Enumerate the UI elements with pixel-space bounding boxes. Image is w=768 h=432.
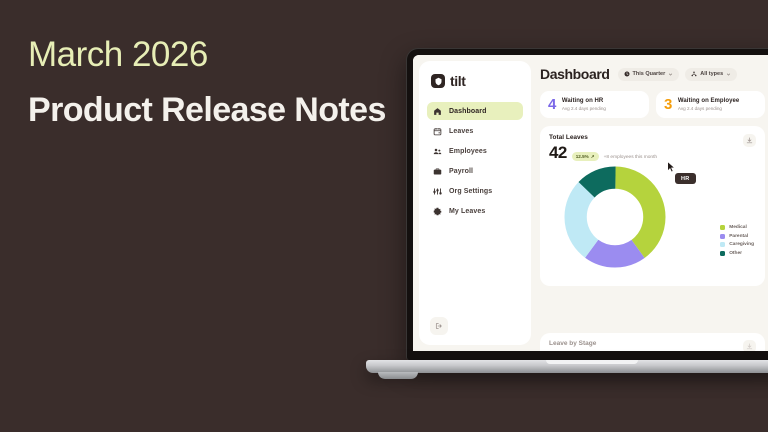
panel-header-text: Total Leaves 42 12.5% ↗ +8 employees thi… (549, 134, 657, 161)
legend-label: Parental (729, 234, 748, 239)
brand-name: tilt (450, 73, 466, 89)
gear-icon (433, 207, 442, 216)
chart-area: Medical Parental Caregiving (549, 163, 756, 281)
filter-chip-label: This Quarter (633, 71, 666, 77)
total-leaves-panel: Total Leaves 42 12.5% ↗ +8 employees thi… (540, 126, 765, 286)
dashboard-app: tilt Dashboard Leaves Emp (413, 55, 768, 351)
sliders-icon (433, 187, 442, 196)
metric-change-value: 12.5% (576, 154, 589, 159)
export-button[interactable] (743, 134, 756, 147)
sidebar-item-label: Employees (449, 148, 487, 155)
stat-text: Waiting on Employee Avg 2.4 days pending (678, 98, 739, 111)
chart-legend: Medical Parental Caregiving (720, 225, 754, 256)
leave-type-donut-chart[interactable] (563, 165, 667, 269)
people-icon (433, 147, 442, 156)
chart-tooltip: HR (675, 173, 696, 184)
metric-row: 42 12.5% ↗ +8 employees this month (549, 144, 657, 161)
stat-value: 3 (664, 97, 672, 112)
home-icon (433, 107, 442, 116)
brand-logo: tilt (427, 72, 523, 89)
stat-text: Waiting on HR Avg 2.4 days pending (562, 98, 606, 111)
logout-button[interactable] (430, 317, 448, 335)
download-icon (746, 343, 753, 350)
filter-chip-type[interactable]: All types (685, 68, 737, 81)
legend-label: Caregiving (729, 242, 754, 247)
hero-text-block: March 2026 Product Release Notes (28, 34, 428, 132)
sidebar-item-payroll[interactable]: Payroll (427, 162, 523, 180)
sidebar-item-label: Org Settings (449, 188, 492, 195)
sidebar-item-my-leaves[interactable]: My Leaves (427, 202, 523, 220)
sidebar-item-label: My Leaves (449, 208, 485, 215)
sidebar-nav: Dashboard Leaves Employees Payroll (427, 102, 523, 220)
main-content: Dashboard This Quarter All types (531, 55, 768, 351)
laptop-base (366, 360, 768, 373)
panel-title: Leave by Stage (549, 340, 596, 347)
filter-chip-label: All types (700, 71, 723, 77)
export-button[interactable] (743, 340, 756, 351)
stat-card-waiting-on-hr[interactable]: 4 Waiting on HR Avg 2.4 days pending (540, 91, 649, 118)
chevron-down-icon (726, 72, 731, 77)
laptop-mockup: tilt Dashboard Leaves Emp (406, 48, 768, 388)
trend-up-icon: ↗ (591, 154, 595, 160)
sidebar-spacer (427, 220, 523, 317)
legend-swatch (720, 225, 725, 230)
laptop-lid: tilt Dashboard Leaves Emp (406, 48, 768, 360)
legend-item[interactable]: Other (720, 251, 754, 256)
legend-swatch (720, 234, 725, 239)
topbar: Dashboard This Quarter All types (540, 66, 768, 82)
mouse-cursor-icon (667, 161, 676, 173)
logout-icon (435, 322, 443, 330)
dashboard-title: Dashboard (540, 66, 610, 82)
sidebar-item-org-settings[interactable]: Org Settings (427, 182, 523, 200)
stat-sublabel: Avg 2.4 days pending (678, 106, 739, 111)
stat-sublabel: Avg 2.4 days pending (562, 106, 606, 111)
leave-by-stage-panel: Leave by Stage (540, 333, 765, 351)
calendar-icon (433, 127, 442, 136)
metric-change-badge: 12.5% ↗ (572, 152, 599, 161)
stat-label: Waiting on HR (562, 98, 606, 104)
legend-swatch (720, 242, 725, 247)
laptop-base-foot (378, 372, 418, 379)
clock-icon (624, 71, 630, 77)
legend-item[interactable]: Caregiving (720, 242, 754, 247)
download-icon (746, 137, 753, 144)
sidebar-item-dashboard[interactable]: Dashboard (427, 102, 523, 120)
sidebar-item-employees[interactable]: Employees (427, 142, 523, 160)
chevron-down-icon (668, 72, 673, 77)
laptop-screen: tilt Dashboard Leaves Emp (413, 55, 768, 351)
legend-swatch (720, 251, 725, 256)
panel-header: Total Leaves 42 12.5% ↗ +8 employees thi… (549, 134, 756, 161)
page-title: Product Release Notes (28, 89, 428, 132)
legend-item[interactable]: Medical (720, 225, 754, 230)
stat-card-waiting-on-employee[interactable]: 3 Waiting on Employee Avg 2.4 days pendi… (656, 91, 765, 118)
sidebar: tilt Dashboard Leaves Emp (419, 61, 531, 345)
sidebar-item-label: Payroll (449, 168, 473, 175)
briefcase-icon (433, 167, 442, 176)
filter-chip-group: This Quarter All types (618, 68, 738, 81)
hero-eyebrow: March 2026 (28, 34, 428, 75)
legend-label: Other (729, 251, 742, 256)
sidebar-item-label: Leaves (449, 128, 473, 135)
stat-value: 4 (548, 97, 556, 112)
metric-note: +8 employees this month (604, 155, 657, 160)
panel-title: Total Leaves (549, 134, 657, 141)
tilt-logo-icon (431, 74, 445, 88)
legend-label: Medical (729, 225, 747, 230)
filter-icon (691, 71, 697, 77)
legend-item[interactable]: Parental (720, 234, 754, 239)
metric-value: 42 (549, 144, 567, 161)
stat-label: Waiting on Employee (678, 98, 739, 104)
sidebar-item-label: Dashboard (449, 108, 486, 115)
stat-card-row: 4 Waiting on HR Avg 2.4 days pending 3 W… (540, 91, 768, 118)
sidebar-item-leaves[interactable]: Leaves (427, 122, 523, 140)
filter-chip-period[interactable]: This Quarter (618, 68, 680, 81)
